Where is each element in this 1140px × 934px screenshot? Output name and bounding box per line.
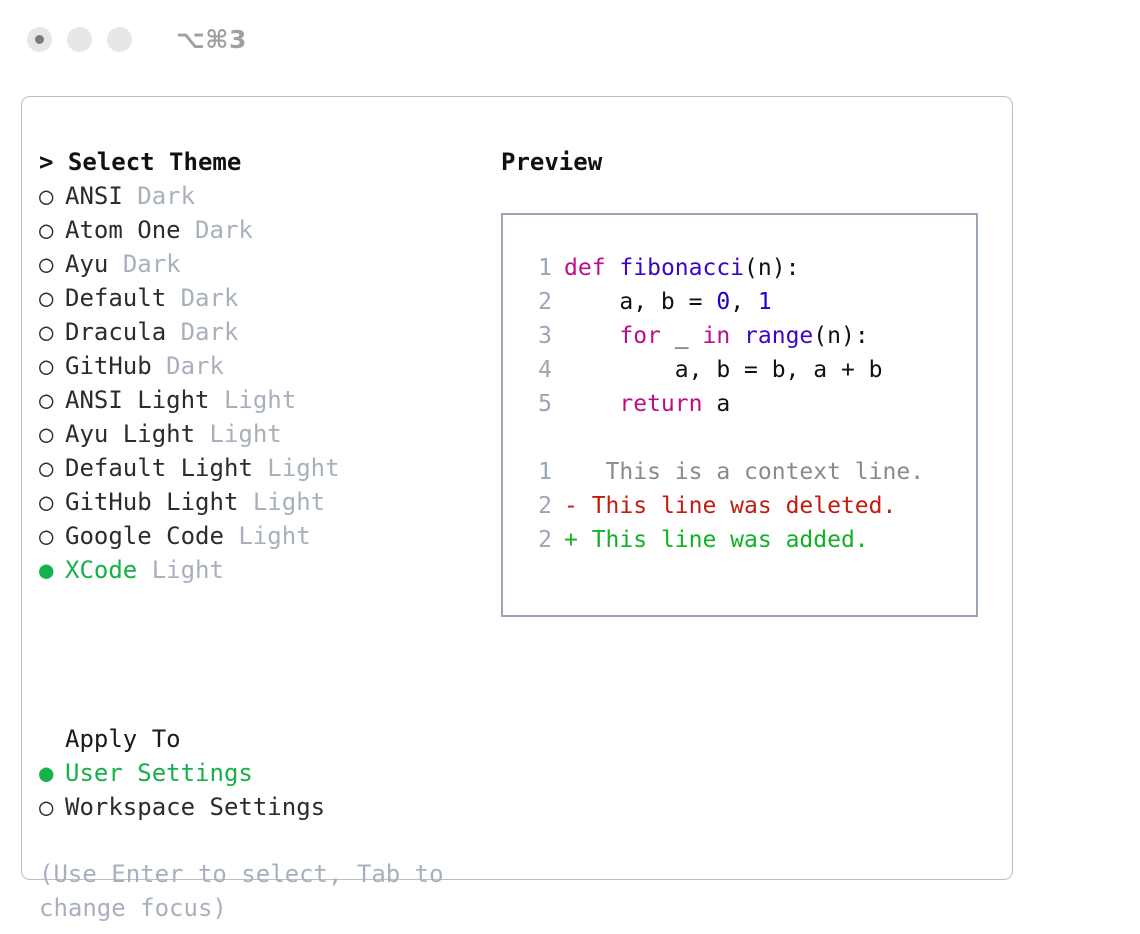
code-token: range xyxy=(744,323,813,349)
theme-option-mode: Light xyxy=(253,488,325,516)
theme-option-row[interactable]: ●XCode Light xyxy=(39,553,494,587)
theme-option-mode: Dark xyxy=(166,352,224,380)
diff-line-number: 2 xyxy=(520,489,552,523)
radio-unselected-icon: ○ xyxy=(39,349,65,383)
theme-option-mode: Light xyxy=(267,454,339,482)
radio-selected-icon: ● xyxy=(39,553,65,587)
code-line: 5 return a xyxy=(520,387,970,421)
apply-to-section: Apply To ●User Settings○Workspace Settin… xyxy=(39,722,494,824)
radio-unselected-icon: ○ xyxy=(39,485,65,519)
code-preview-area: 1def fibonacci(n):2 a, b = 0, 13 for _ i… xyxy=(520,251,970,557)
theme-option-name: GitHub Light xyxy=(65,488,238,516)
keyboard-hint-text: (Use Enter to select, Tab to change focu… xyxy=(39,857,449,925)
theme-option-name: Ayu xyxy=(65,250,108,278)
code-token: fibonacci xyxy=(619,255,744,281)
code-token: , xyxy=(730,289,758,315)
window-dot-record-icon[interactable] xyxy=(27,27,52,52)
keyboard-shortcut-label: ⌥⌘3 xyxy=(176,27,247,52)
theme-option-name: Ayu Light xyxy=(65,420,195,448)
theme-option-row[interactable]: ○Ayu Light Light xyxy=(39,417,494,451)
radio-unselected-icon: ○ xyxy=(39,179,65,213)
code-token xyxy=(730,323,744,349)
window-dot-three-icon[interactable] xyxy=(107,27,132,52)
code-token: in xyxy=(702,323,730,349)
theme-option-name: ANSI Light xyxy=(65,386,210,414)
code-token: _ xyxy=(661,323,703,349)
radio-unselected-icon: ○ xyxy=(39,790,65,824)
theme-picker-panel: > Select Theme ○ANSI Dark○Atom One Dark○… xyxy=(21,96,1013,880)
code-token: def xyxy=(564,255,606,281)
code-line-number: 1 xyxy=(520,251,552,285)
code-line-number: 4 xyxy=(520,353,552,387)
radio-unselected-icon: ○ xyxy=(39,315,65,349)
diff-marker xyxy=(564,459,578,485)
code-token: a, b = b, a + b xyxy=(564,357,883,383)
apply-to-option-row[interactable]: ●User Settings xyxy=(39,756,494,790)
theme-list: ○ANSI Dark○Atom One Dark○Ayu Dark○Defaul… xyxy=(39,179,494,587)
diff-line: 2+ This line was added. xyxy=(520,523,970,557)
theme-option-mode: Light xyxy=(152,556,224,584)
diff-line-number: 1 xyxy=(520,455,552,489)
code-line: 3 for _ in range(n): xyxy=(520,319,970,353)
theme-option-row[interactable]: ○ANSI Light Light xyxy=(39,383,494,417)
code-token: a, b = xyxy=(564,289,716,315)
theme-option-mode: Dark xyxy=(181,284,239,312)
diff-marker: - xyxy=(564,493,578,519)
theme-option-mode: Dark xyxy=(195,216,253,244)
code-token: (n): xyxy=(744,255,799,281)
code-token xyxy=(606,255,620,281)
theme-option-row[interactable]: ○Atom One Dark xyxy=(39,213,494,247)
preview-box: 1def fibonacci(n):2 a, b = 0, 13 for _ i… xyxy=(501,213,978,617)
window-dot-two-icon[interactable] xyxy=(67,27,92,52)
theme-option-name: Default xyxy=(65,284,166,312)
radio-unselected-icon: ○ xyxy=(39,519,65,553)
theme-option-mode: Dark xyxy=(123,250,181,278)
app-window: ⌥⌘3 > Select Theme ○ANSI Dark○Atom One D… xyxy=(0,0,1140,934)
code-token: 1 xyxy=(758,289,772,315)
radio-unselected-icon: ○ xyxy=(39,383,65,417)
radio-unselected-icon: ○ xyxy=(39,247,65,281)
theme-option-row[interactable]: ○GitHub Dark xyxy=(39,349,494,383)
radio-unselected-icon: ○ xyxy=(39,281,65,315)
code-line-number: 2 xyxy=(520,285,552,319)
code-token: 0 xyxy=(716,289,730,315)
window-titlebar: ⌥⌘3 xyxy=(0,0,1140,78)
apply-to-option-label: Workspace Settings xyxy=(65,793,325,821)
theme-option-mode: Light xyxy=(210,420,282,448)
code-token xyxy=(564,391,619,417)
diff-text: This line was added. xyxy=(578,527,869,553)
diff-marker: + xyxy=(564,527,578,553)
diff-line: 1 This is a context line. xyxy=(520,455,970,489)
code-line-number: 3 xyxy=(520,319,552,353)
select-theme-heading: > Select Theme xyxy=(39,145,494,179)
code-diff-separator xyxy=(520,421,970,455)
theme-option-mode: Dark xyxy=(137,182,195,210)
code-line-number: 5 xyxy=(520,387,552,421)
theme-option-name: XCode xyxy=(65,556,137,584)
radio-unselected-icon: ○ xyxy=(39,417,65,451)
theme-option-row[interactable]: ○Ayu Dark xyxy=(39,247,494,281)
diff-text: This is a context line. xyxy=(578,459,924,485)
diff-line-number: 2 xyxy=(520,523,552,557)
code-line: 4 a, b = b, a + b xyxy=(520,353,970,387)
record-indicator-icon xyxy=(35,35,44,44)
code-line: 2 a, b = 0, 1 xyxy=(520,285,970,319)
preview-heading: Preview xyxy=(501,145,991,179)
apply-to-heading: Apply To xyxy=(39,722,494,756)
theme-list-column: > Select Theme ○ANSI Dark○Atom One Dark○… xyxy=(39,145,494,587)
theme-option-row[interactable]: ○Dracula Dark xyxy=(39,315,494,349)
code-line: 1def fibonacci(n): xyxy=(520,251,970,285)
theme-option-mode: Light xyxy=(238,522,310,550)
theme-option-name: Atom One xyxy=(65,216,181,244)
theme-option-name: ANSI xyxy=(65,182,123,210)
theme-option-mode: Light xyxy=(224,386,296,414)
theme-option-name: Google Code xyxy=(65,522,224,550)
code-token: a xyxy=(702,391,730,417)
theme-option-row[interactable]: ○Default Dark xyxy=(39,281,494,315)
theme-option-row[interactable]: ○Default Light Light xyxy=(39,451,494,485)
theme-option-row[interactable]: ○Google Code Light xyxy=(39,519,494,553)
code-token: (n): xyxy=(813,323,868,349)
theme-option-row[interactable]: ○ANSI Dark xyxy=(39,179,494,213)
radio-unselected-icon: ○ xyxy=(39,451,65,485)
radio-selected-icon: ● xyxy=(39,756,65,790)
apply-to-options: ●User Settings○Workspace Settings xyxy=(39,756,494,824)
theme-option-name: Dracula xyxy=(65,318,166,346)
theme-option-name: GitHub xyxy=(65,352,152,380)
diff-text: This line was deleted. xyxy=(578,493,897,519)
theme-option-mode: Dark xyxy=(181,318,239,346)
apply-to-option-label: User Settings xyxy=(65,759,253,787)
theme-option-row[interactable]: ○GitHub Light Light xyxy=(39,485,494,519)
code-token: return xyxy=(619,391,702,417)
code-token: for xyxy=(619,323,661,349)
diff-line: 2- This line was deleted. xyxy=(520,489,970,523)
theme-option-name: Default Light xyxy=(65,454,253,482)
code-token xyxy=(564,323,619,349)
preview-column: Preview 1def fibonacci(n):2 a, b = 0, 13… xyxy=(501,145,991,617)
radio-unselected-icon: ○ xyxy=(39,213,65,247)
apply-to-option-row[interactable]: ○Workspace Settings xyxy=(39,790,494,824)
